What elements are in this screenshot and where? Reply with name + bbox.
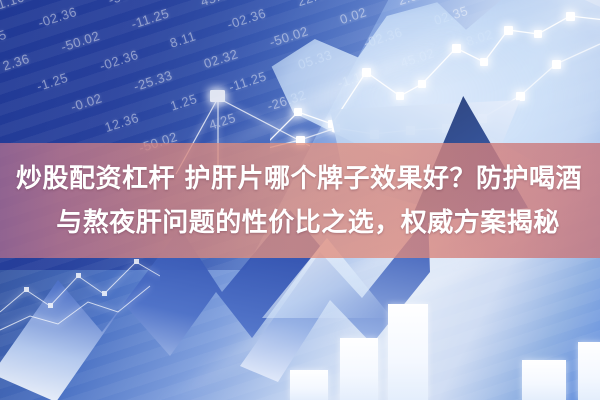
bar-chart bbox=[284, 270, 600, 400]
ticker-value: 8.11 bbox=[168, 28, 198, 50]
bar-5 bbox=[578, 342, 600, 400]
ticker-value: 12.36 bbox=[103, 109, 141, 134]
ticker-value: 1.16 bbox=[0, 0, 26, 12]
ticker-value: -02.36 bbox=[36, 3, 79, 30]
bar-4 bbox=[522, 360, 566, 400]
mini-line-chart bbox=[0, 250, 160, 340]
ticker-value: -02.36 bbox=[225, 5, 268, 32]
ticker-value: -11.25 bbox=[129, 5, 171, 31]
bar-1 bbox=[290, 370, 328, 400]
banner-title: 炒股配资杠杆 护肝片哪个牌子效果好？防护喝酒 与熬夜肝问题的性价比之选，权威方案… bbox=[0, 143, 600, 258]
ticker-value: -1.25 bbox=[35, 69, 70, 93]
bar-3 bbox=[388, 304, 428, 400]
ticker-value: -50.02 bbox=[59, 27, 102, 54]
ticker-value: -02.36 bbox=[98, 46, 141, 73]
promo-banner-image: -1.254.25-02.36-50.0218.0221.0-0.951.16-… bbox=[0, 0, 600, 400]
title-line-1: 炒股配资杠杆 护肝片哪个牌子效果好？防护喝酒 bbox=[16, 158, 584, 200]
ticker-value: -0.02 bbox=[69, 90, 104, 114]
title-line-2: 与熬夜肝问题的性价比之选，权威方案揭秘 bbox=[40, 202, 560, 244]
bar-2 bbox=[340, 338, 378, 400]
ticker-value: 2.36 bbox=[1, 50, 32, 73]
